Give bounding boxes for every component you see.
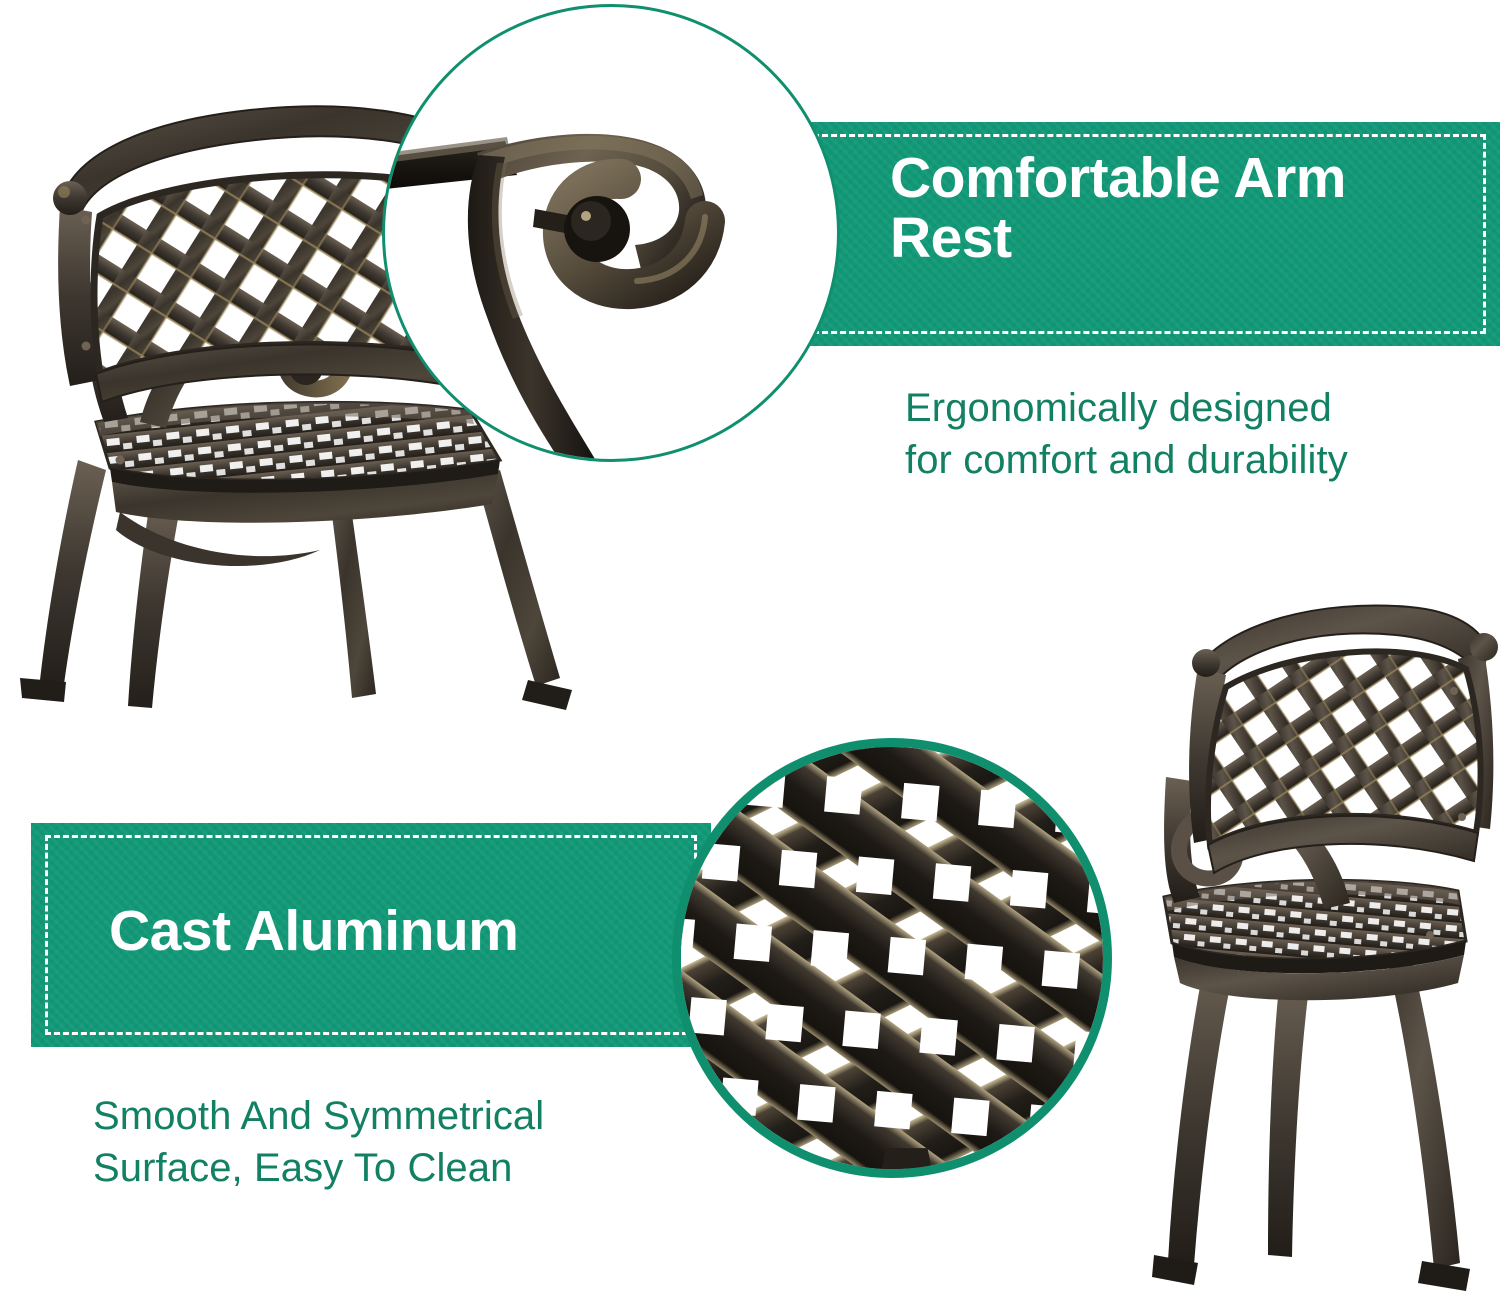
feature-subtitle-cast-aluminum: Smooth And Symmetrical Surface, Easy To …: [93, 1090, 693, 1194]
chair-right-view: [1110, 555, 1500, 1293]
callout-circle-lattice: [672, 738, 1112, 1178]
banner-title-cast-aluminum: Cast Aluminum: [109, 901, 689, 961]
feature-subtitle-arm-rest: Ergonomically designed for comfort and d…: [905, 382, 1485, 486]
feature-banner-cast-aluminum: Cast Aluminum: [31, 823, 711, 1047]
product-infographic: Comfortable Arm Rest Ergonomically desig…: [0, 0, 1500, 1293]
callout-circle-armrest: [382, 4, 840, 462]
armrest-scroll-icon: [385, 7, 837, 459]
banner-title-arm-rest: Comfortable Arm Rest: [890, 148, 1470, 269]
lattice-weave-icon: [681, 747, 1103, 1169]
chair-icon: [1110, 555, 1500, 1293]
feature-banner-arm-rest: Comfortable Arm Rest: [790, 122, 1500, 346]
